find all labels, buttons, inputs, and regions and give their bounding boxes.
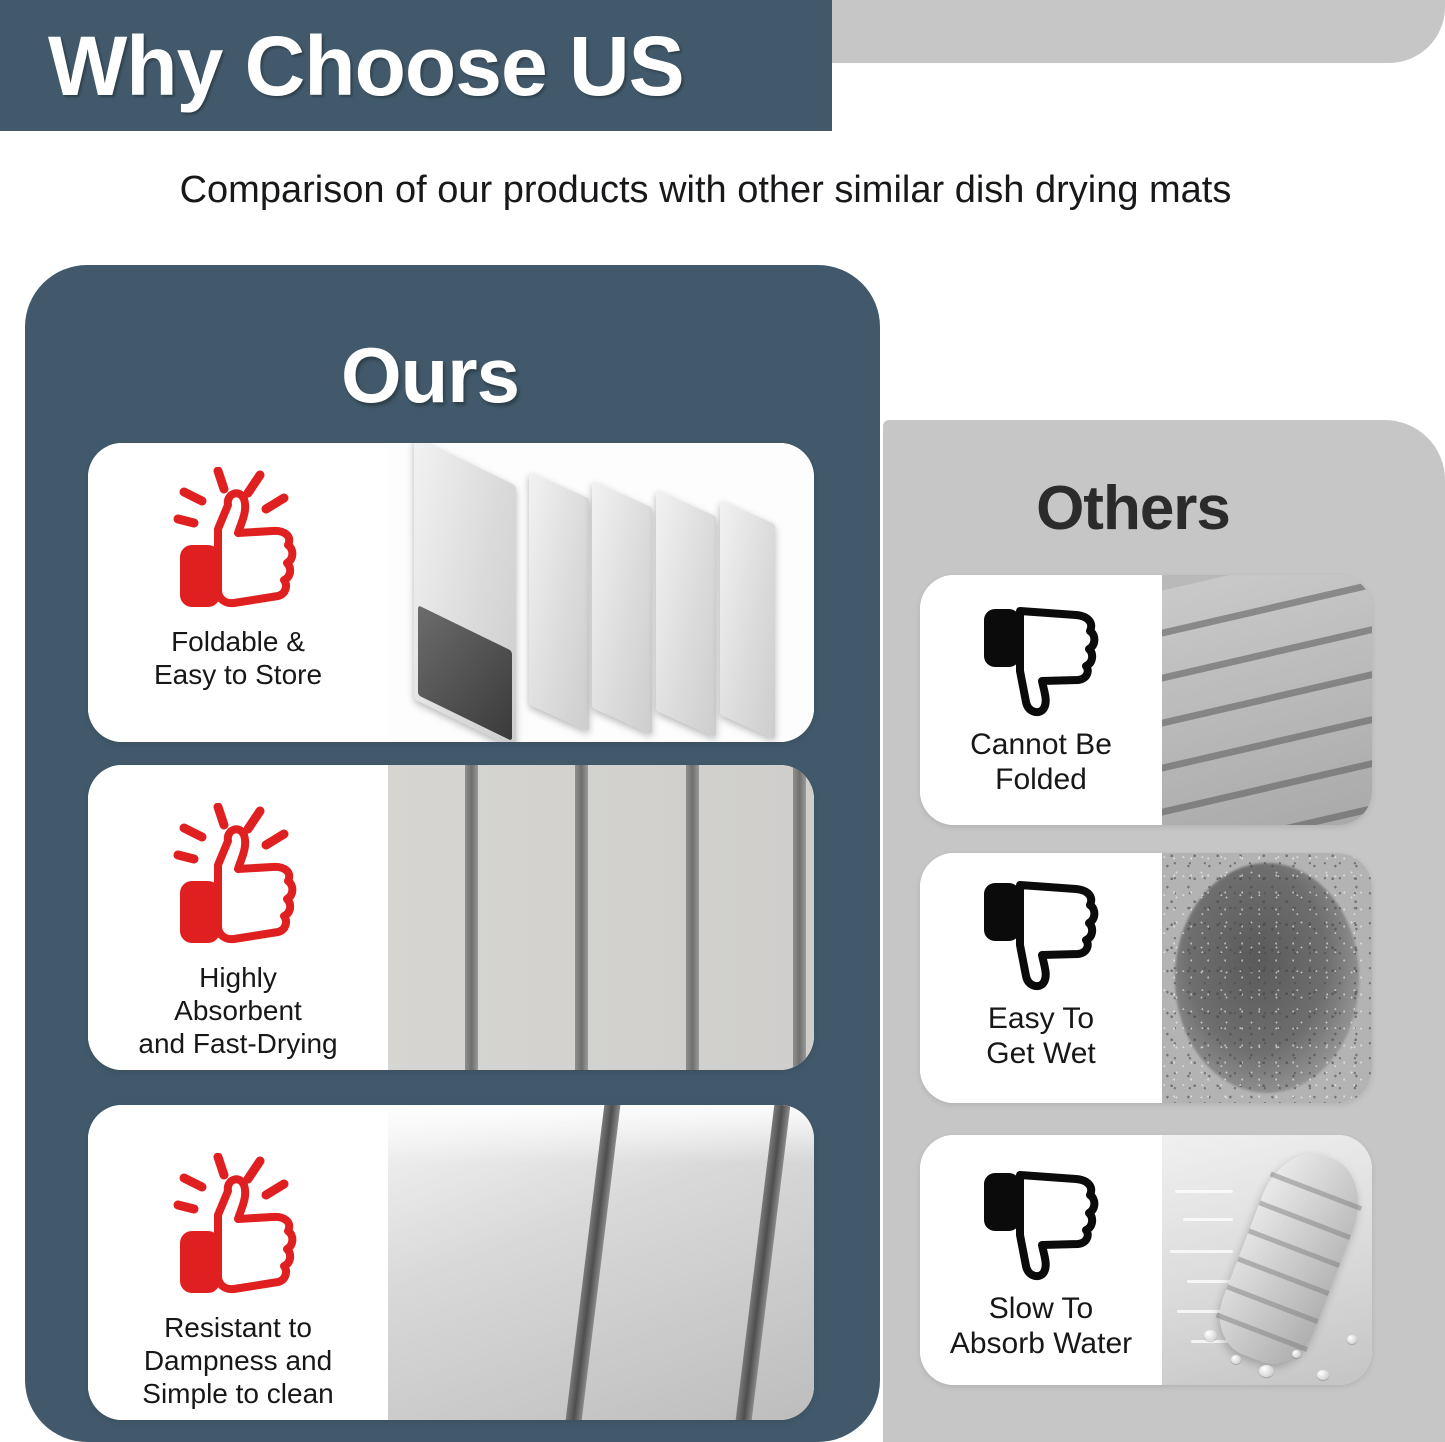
thumbs-down-icon bbox=[980, 601, 1102, 717]
card-label: Cannot Be Folded bbox=[970, 727, 1112, 798]
ours-heading: Ours bbox=[25, 336, 835, 414]
infographic-root: Why Choose US Comparison of our products… bbox=[0, 0, 1445, 1442]
thumbs-down-icon bbox=[980, 875, 1102, 991]
wet-mat-corn-photo bbox=[1162, 1135, 1372, 1385]
ours-feature-card: Highly Absorbent and Fast-Drying bbox=[88, 765, 814, 1070]
title-bar: Why Choose US bbox=[0, 0, 832, 131]
terry-cloth-photo bbox=[1162, 853, 1372, 1103]
card-content: Foldable & Easy to Store bbox=[88, 443, 388, 742]
thumbs-up-icon bbox=[168, 1153, 308, 1303]
card-content: Slow To Absorb Water bbox=[920, 1135, 1162, 1385]
rigid-striped-mat-photo bbox=[1162, 575, 1372, 825]
card-content: Cannot Be Folded bbox=[920, 575, 1162, 825]
others-feature-card: Cannot Be Folded bbox=[920, 575, 1372, 825]
thumbs-up-icon bbox=[168, 467, 308, 617]
ours-feature-card: Foldable & Easy to Store bbox=[88, 443, 814, 742]
grooved-mat-photo bbox=[388, 765, 814, 1070]
page-subtitle: Comparison of our products with other si… bbox=[0, 168, 1411, 214]
page-title: Why Choose US bbox=[48, 24, 684, 108]
card-content: Easy To Get Wet bbox=[920, 853, 1162, 1103]
card-label: Highly Absorbent and Fast-Drying bbox=[138, 961, 337, 1060]
brushed-mat-photo bbox=[388, 1105, 814, 1420]
thumbs-down-icon bbox=[980, 1165, 1102, 1281]
others-heading: Others bbox=[883, 478, 1383, 540]
card-label: Slow To Absorb Water bbox=[950, 1291, 1132, 1362]
ours-feature-card: Resistant to Dampness and Simple to clea… bbox=[88, 1105, 814, 1420]
folded-mat-photo bbox=[388, 443, 814, 742]
others-feature-card: Slow To Absorb Water bbox=[920, 1135, 1372, 1385]
card-label: Foldable & Easy to Store bbox=[154, 625, 322, 691]
thumbs-up-icon bbox=[168, 803, 308, 953]
top-gray-band bbox=[830, 0, 1445, 63]
others-feature-card: Easy To Get Wet bbox=[920, 853, 1372, 1103]
card-content: Resistant to Dampness and Simple to clea… bbox=[88, 1105, 388, 1420]
card-label: Easy To Get Wet bbox=[986, 1001, 1095, 1072]
card-label: Resistant to Dampness and Simple to clea… bbox=[142, 1311, 333, 1410]
card-content: Highly Absorbent and Fast-Drying bbox=[88, 765, 388, 1070]
